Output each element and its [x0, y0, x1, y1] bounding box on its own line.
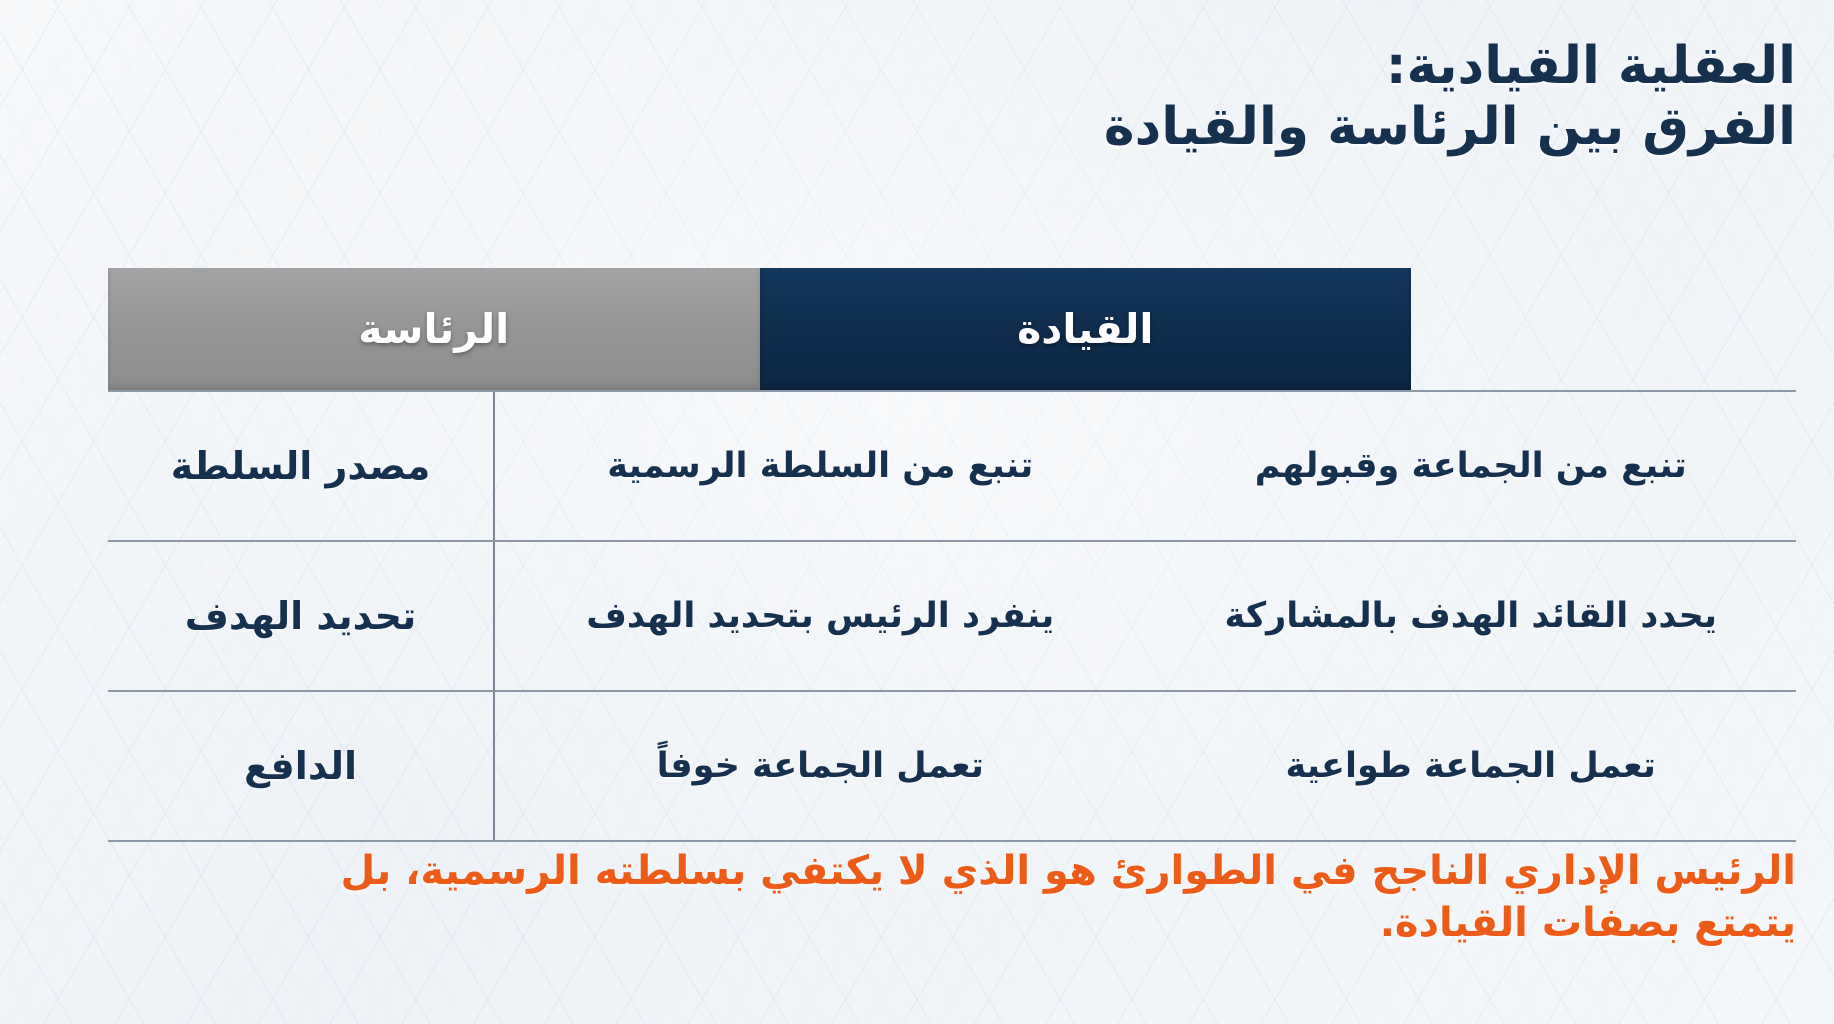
comparison-table: القيادة الرئاسة تنبع من الجماعة وقبولهم … — [108, 268, 1796, 842]
page-title: العقلية القيادية: الفرق بين الرئاسة والق… — [380, 36, 1796, 159]
table-row: يحدد القائد الهدف بالمشاركة ينفرد الرئيس… — [108, 540, 1796, 690]
table-body: تنبع من الجماعة وقبولهم تنبع من السلطة ا… — [108, 390, 1796, 842]
cell-leadership: تنبع من الجماعة وقبولهم — [1146, 392, 1797, 540]
slide: العقلية القيادية: الفرق بين الرئاسة والق… — [0, 0, 1834, 1024]
footer-highlight: الرئيس الإداري الناجح في الطوارئ هو الذي… — [110, 845, 1796, 949]
cell-presidency: تنبع من السلطة الرسمية — [493, 392, 1146, 540]
cell-presidency: تعمل الجماعة خوفاً — [493, 692, 1146, 840]
cell-leadership: يحدد القائد الهدف بالمشاركة — [1146, 542, 1797, 690]
row-label: مصدر السلطة — [108, 392, 493, 540]
table-header-row: القيادة الرئاسة — [108, 268, 1796, 390]
footer-line-1: الرئيس الإداري الناجح في الطوارئ هو الذي… — [110, 845, 1796, 897]
column-header-leadership: القيادة — [760, 268, 1412, 390]
row-label: الدافع — [108, 692, 493, 840]
footer-line-2: يتمتع بصفات القيادة. — [110, 897, 1796, 949]
cell-presidency: ينفرد الرئيس بتحديد الهدف — [493, 542, 1146, 690]
slide-content: العقلية القيادية: الفرق بين الرئاسة والق… — [0, 0, 1834, 1024]
cell-leadership: تعمل الجماعة طواعية — [1146, 692, 1797, 840]
title-line-2: الفرق بين الرئاسة والقيادة — [380, 97, 1796, 158]
title-line-1: العقلية القيادية: — [380, 36, 1796, 97]
column-header-presidency: الرئاسة — [108, 268, 760, 390]
table-row: تنبع من الجماعة وقبولهم تنبع من السلطة ا… — [108, 390, 1796, 540]
table-row: تعمل الجماعة طواعية تعمل الجماعة خوفاً ا… — [108, 690, 1796, 842]
row-label: تحديد الهدف — [108, 542, 493, 690]
